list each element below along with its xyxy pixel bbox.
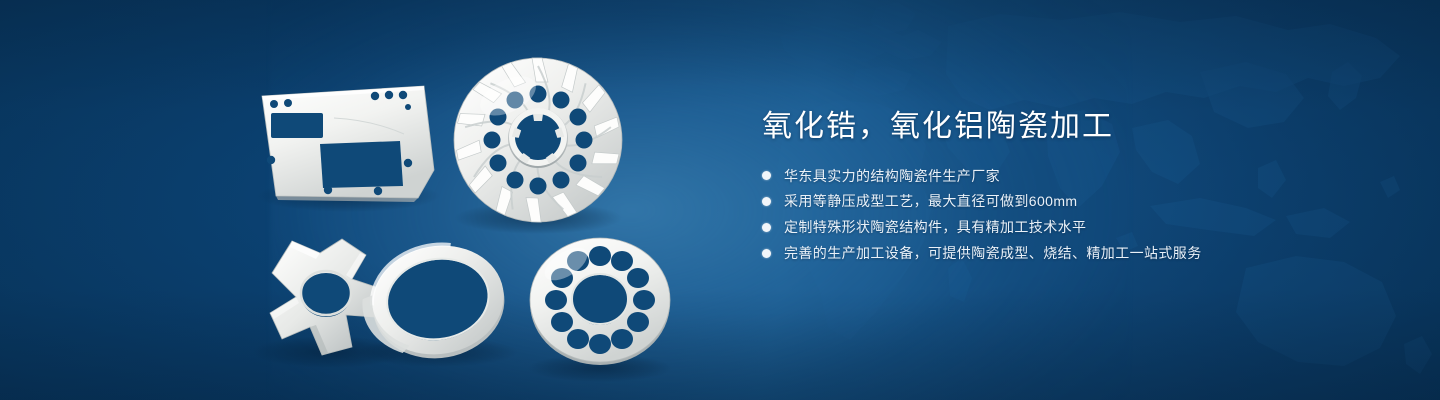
banner-copy: 氧化锆，氧化铝陶瓷加工 华东具实力的结构陶瓷件生产厂家 采用等静压成型工艺，最大…	[762, 108, 1382, 262]
bullet-dot-icon	[762, 223, 771, 232]
ceramic-perforated-disc-shape	[530, 238, 670, 365]
ceramic-cross-shape	[270, 239, 382, 355]
bullet-dot-icon	[762, 197, 771, 206]
feature-text: 华东具实力的结构陶瓷件生产厂家	[784, 168, 1000, 185]
banner-headline: 氧化锆，氧化铝陶瓷加工	[762, 108, 1382, 146]
list-item: 华东具实力的结构陶瓷件生产厂家	[762, 168, 1382, 185]
list-item: 完善的生产加工设备，可提供陶瓷成型、烧结、精加工一站式服务	[762, 245, 1382, 262]
hero-banner: 氧化锆，氧化铝陶瓷加工 华东具实力的结构陶瓷件生产厂家 采用等静压成型工艺，最大…	[0, 0, 1440, 400]
list-item: 定制特殊形状陶瓷结构件，具有精加工技术水平	[762, 219, 1382, 236]
bullet-dot-icon	[762, 249, 771, 258]
list-item: 采用等静压成型工艺，最大直径可做到600mm	[762, 193, 1382, 210]
ceramic-plate-shape	[262, 86, 434, 202]
feature-text: 定制特殊形状陶瓷结构件，具有精加工技术水平	[784, 219, 1086, 236]
bullet-dot-icon	[762, 171, 771, 180]
feature-list: 华东具实力的结构陶瓷件生产厂家 采用等静压成型工艺，最大直径可做到600mm 定…	[762, 168, 1382, 262]
feature-text: 采用等静压成型工艺，最大直径可做到600mm	[784, 193, 1077, 210]
ceramic-impeller-shape	[454, 58, 622, 222]
feature-text: 完善的生产加工设备，可提供陶瓷成型、烧结、精加工一站式服务	[784, 245, 1202, 262]
ceramic-products-image	[0, 0, 740, 400]
